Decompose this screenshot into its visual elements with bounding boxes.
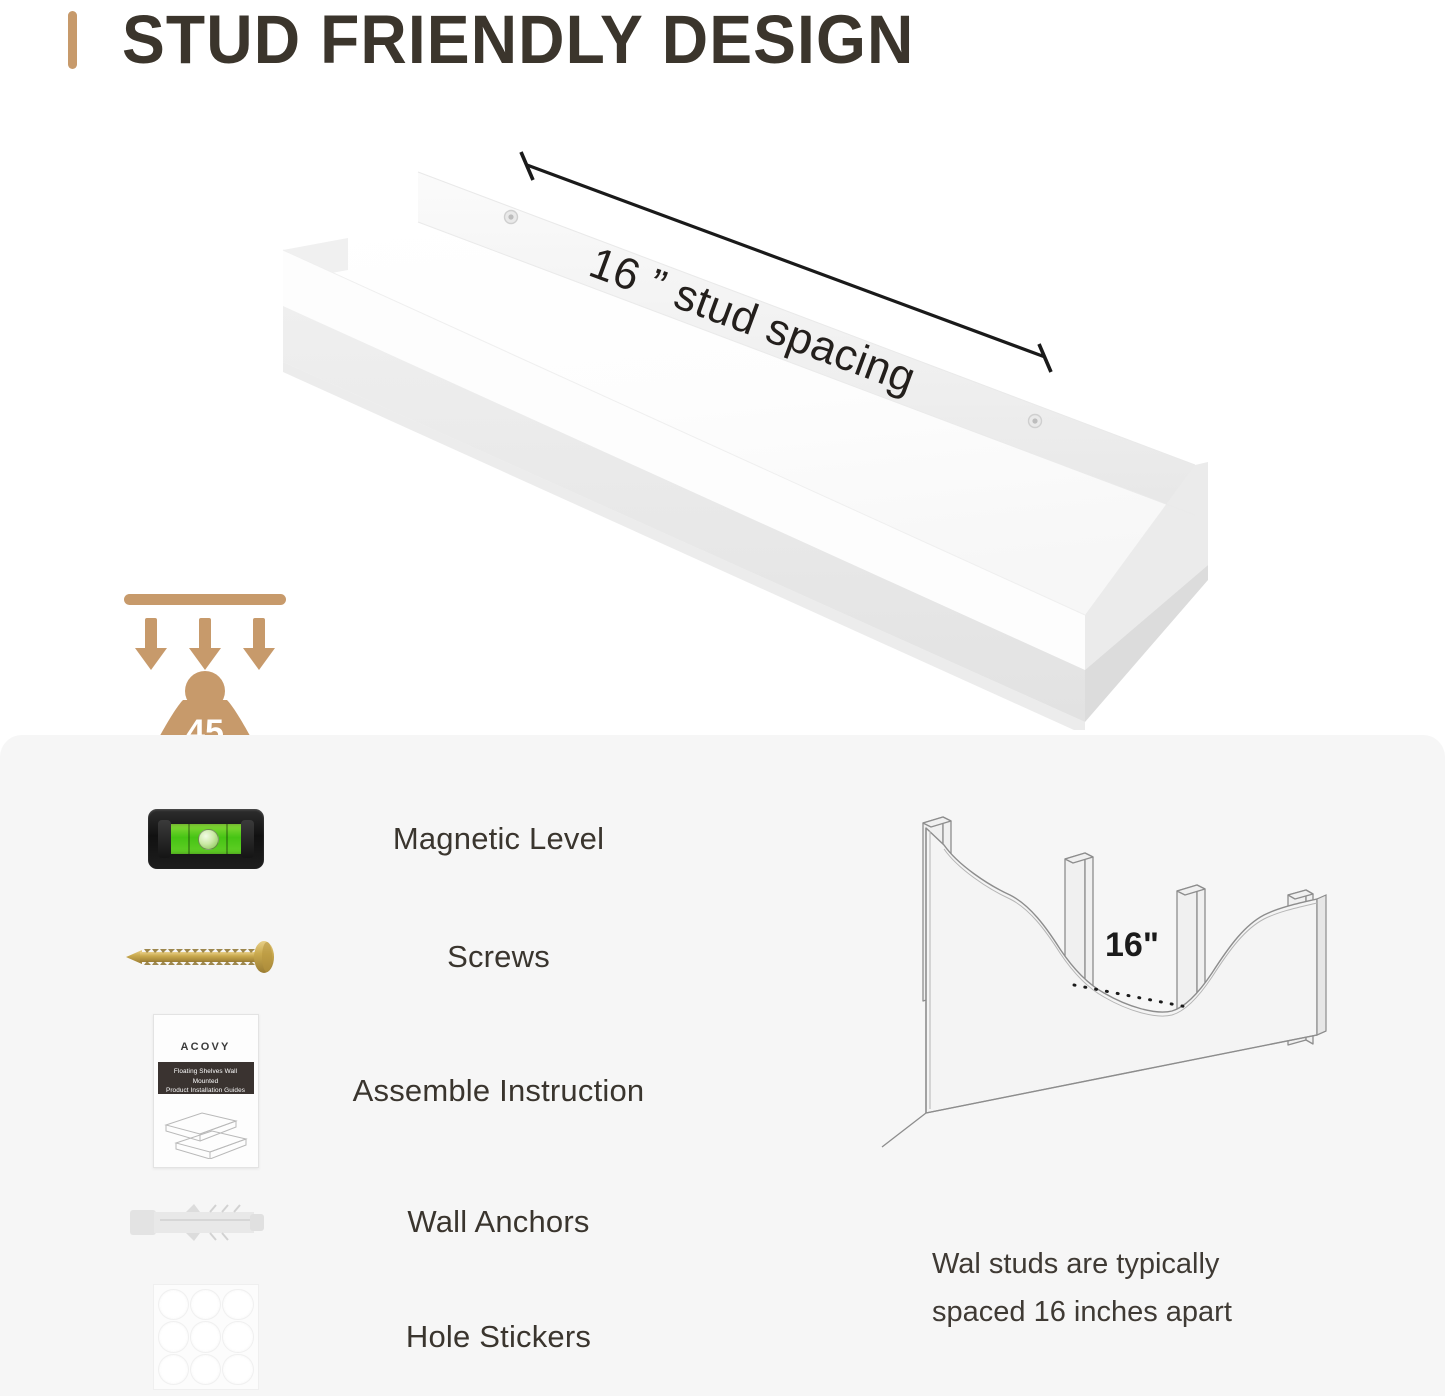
- list-item: Screws: [118, 898, 758, 1016]
- accessory-label: Hole Stickers: [293, 1319, 758, 1355]
- stud-spacing-label: 16": [1105, 923, 1225, 967]
- screw-icon: [118, 940, 293, 974]
- screw-hole: [505, 211, 518, 224]
- magnetic-level-icon: [118, 809, 293, 869]
- booklet-brand: ACOVY: [154, 1041, 258, 1053]
- page-header: STUD FRIENDLY DESIGN: [0, 0, 1445, 110]
- title-accent-bar: [68, 11, 77, 69]
- wall-anchor-icon: [118, 1200, 293, 1244]
- accessories-panel: Magnetic Level: [0, 735, 1445, 1396]
- screw-hole: [1029, 415, 1042, 428]
- load-arrow-icon: [189, 618, 221, 670]
- list-item: Wall Anchors: [118, 1166, 758, 1278]
- list-item: Magnetic Level: [118, 780, 758, 898]
- page-title: STUD FRIENDLY DESIGN: [122, 0, 914, 82]
- load-bar-icon: [124, 594, 286, 605]
- booklet-shelf-drawing: [162, 1103, 250, 1159]
- list-item: ACOVY Floating Shelves Wall Mounted Prod…: [118, 1016, 758, 1166]
- hero-product-section: 16 ” stud spacing 45: [0, 110, 1445, 730]
- accessory-label: Assemble Instruction: [293, 1073, 758, 1109]
- hole-sticker-icon: [118, 1284, 293, 1390]
- accessory-label: Magnetic Level: [293, 821, 758, 857]
- caption-line-2: spaced 16 inches apart: [932, 1288, 1352, 1336]
- caption-line-1: Wal studs are typically: [932, 1240, 1352, 1288]
- wall-stud-diagram: 16": [860, 795, 1360, 1225]
- instruction-booklet-icon: ACOVY Floating Shelves Wall Mounted Prod…: [118, 1014, 293, 1168]
- accessory-label: Wall Anchors: [293, 1204, 758, 1240]
- accessory-label: Screws: [293, 939, 758, 975]
- list-item: Hole Stickers: [118, 1278, 758, 1396]
- accessory-list: Magnetic Level: [118, 780, 758, 1396]
- booklet-subtitle: Floating Shelves Wall Mounted Product In…: [158, 1062, 254, 1094]
- stud-spacing-value: 16": [1105, 926, 1159, 964]
- drywall-sheet: [926, 828, 1317, 1113]
- stud-diagram-caption: Wal studs are typically spaced 16 inches…: [932, 1240, 1352, 1336]
- load-arrow-icon: [243, 618, 275, 670]
- load-arrow-icon: [135, 618, 167, 670]
